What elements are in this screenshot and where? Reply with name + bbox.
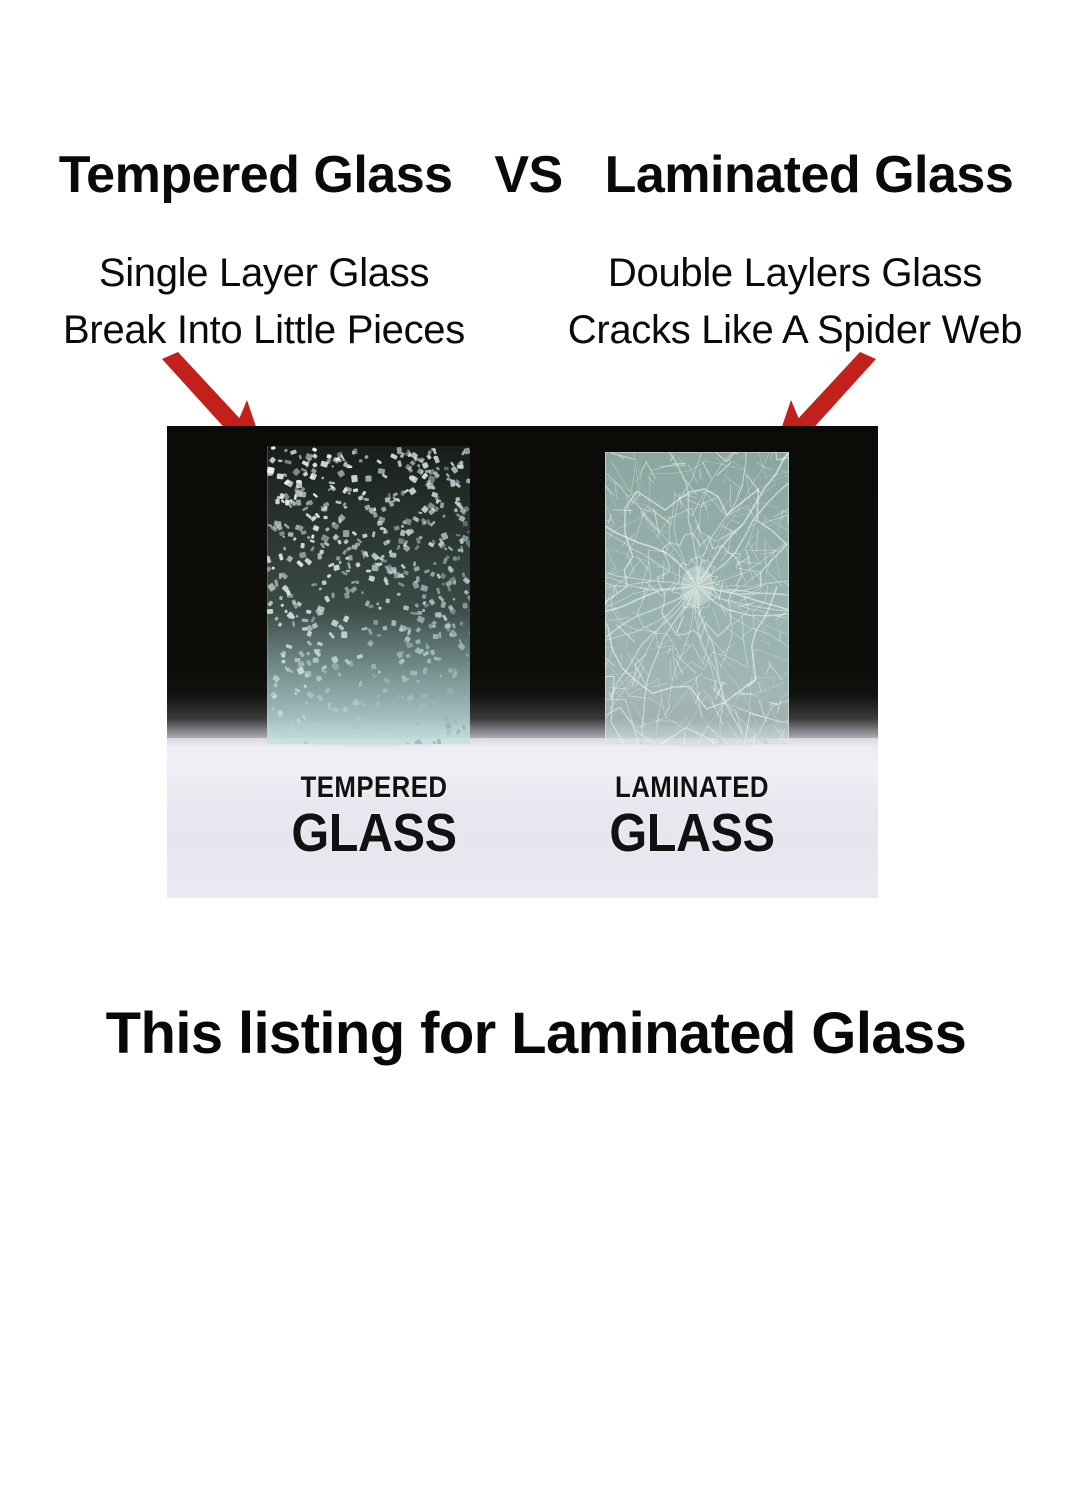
tempered-photo-caption: TEMPERED GLASS	[249, 773, 499, 860]
tempered-description-line-1: Single Layer Glass	[8, 245, 520, 302]
tempered-glass-panel	[267, 446, 470, 744]
tempered-description-line-2: Break Into Little Pieces	[8, 302, 520, 359]
listing-note: This listing for Laminated Glass	[0, 1000, 1072, 1067]
tempered-glass-fragments	[267, 446, 470, 744]
laminated-description-line-1: Double Laylers Glass	[520, 245, 1070, 302]
tempered-caption-top: TEMPERED	[267, 773, 482, 803]
laminated-glass-panel	[605, 452, 789, 744]
tempered-description: Single Layer Glass Break Into Little Pie…	[0, 245, 520, 359]
comparison-photo: TEMPERED GLASS LAMINATED GLASS	[167, 426, 878, 898]
laminated-caption-bottom: GLASS	[580, 806, 805, 860]
page-title: Tempered Glass VS Laminated Glass	[0, 148, 1072, 203]
laminated-glass-cracks	[605, 452, 789, 744]
laminated-photo-caption: LAMINATED GLASS	[567, 773, 817, 860]
tempered-caption-bottom: GLASS	[262, 806, 487, 860]
laminated-caption-top: LAMINATED	[585, 773, 800, 803]
comparison-descriptions: Single Layer Glass Break Into Little Pie…	[0, 245, 1072, 359]
laminated-description-line-2: Cracks Like A Spider Web	[520, 302, 1070, 359]
laminated-description: Double Laylers Glass Cracks Like A Spide…	[520, 245, 1072, 359]
